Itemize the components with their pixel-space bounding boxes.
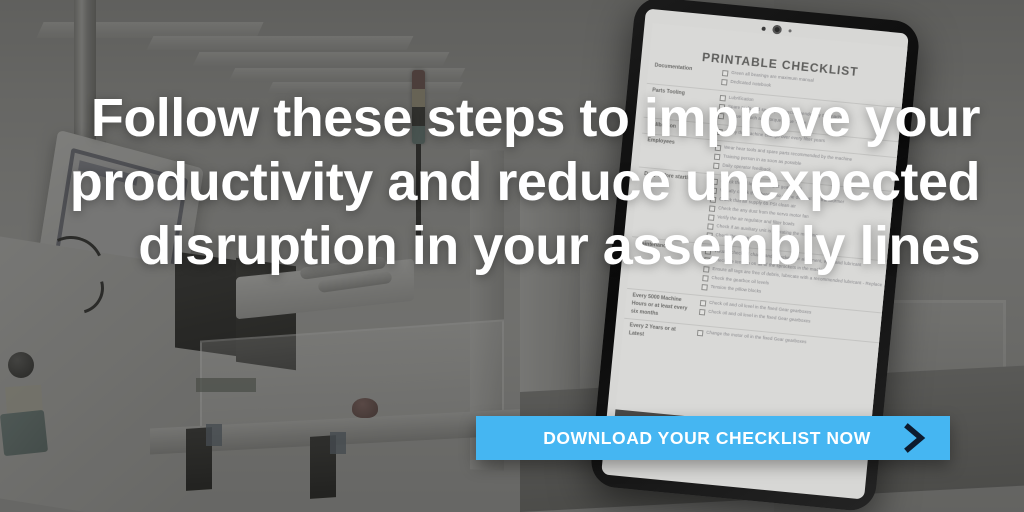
checkbox-icon[interactable] [722, 70, 729, 77]
checklist-section-label: Every 5000 Machine Hours or at least eve… [631, 292, 695, 321]
checklist-section-label: Documentation [653, 63, 716, 87]
checkbox-icon[interactable] [700, 300, 707, 307]
promotional-banner: PRINTABLE CHECKLIST DocumentationGreen a… [0, 0, 1024, 512]
checkbox-icon[interactable] [697, 330, 704, 337]
download-checklist-button[interactable]: DOWNLOAD YOUR CHECKLIST NOW [476, 416, 950, 460]
chevron-right-icon [902, 423, 928, 453]
page-title: Follow these steps to improve your produ… [60, 86, 980, 278]
checkbox-icon[interactable] [721, 79, 728, 86]
cta-label: DOWNLOAD YOUR CHECKLIST NOW [498, 428, 902, 449]
sensor-dot-icon [761, 26, 765, 30]
camera-lens-icon [772, 25, 782, 35]
checklist-section-label: Every 2 Years or at Latest [628, 323, 691, 344]
indicator-dot-icon [788, 29, 791, 32]
checkbox-icon[interactable] [699, 309, 706, 316]
checkbox-icon[interactable] [701, 284, 708, 291]
